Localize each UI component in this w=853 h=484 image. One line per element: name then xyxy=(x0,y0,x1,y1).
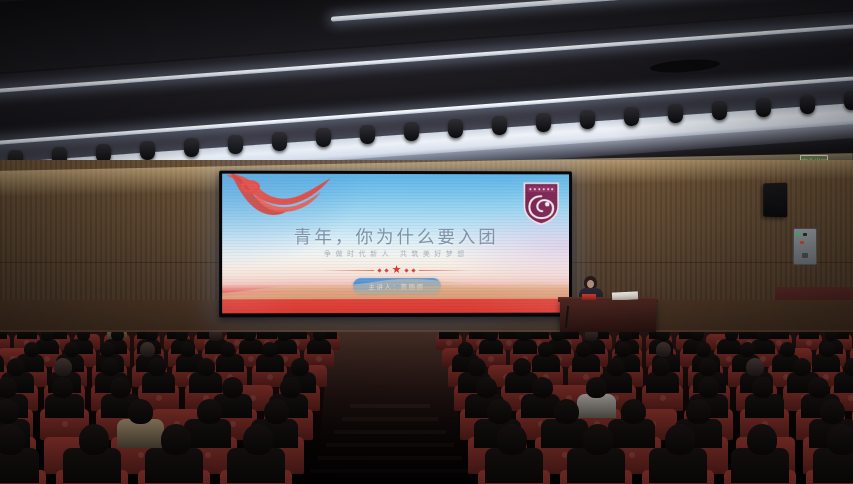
ceiling-downlight xyxy=(624,107,639,126)
attendee-head xyxy=(161,424,191,455)
attendee-head xyxy=(101,358,119,376)
attendee-head xyxy=(243,332,256,341)
attendee-head xyxy=(24,342,39,357)
attendee-head xyxy=(691,332,704,341)
red-ribbon-icon xyxy=(224,174,333,228)
attendee-head xyxy=(808,377,829,398)
attendee-head xyxy=(517,332,530,341)
seated-attendee xyxy=(287,332,308,339)
attendee-head xyxy=(583,424,613,455)
auditorium-photo: 安全出口 xyxy=(0,0,853,484)
attendee-head xyxy=(820,399,845,425)
ceiling-downlight xyxy=(844,91,853,110)
attendee-head xyxy=(277,332,290,341)
seated-attendee xyxy=(439,332,460,339)
attendee-head xyxy=(264,399,289,425)
attendee-head xyxy=(747,424,777,455)
attendee-head xyxy=(752,377,773,398)
attendee-head xyxy=(699,358,717,376)
ceiling-downlight xyxy=(228,135,243,154)
attendee-head xyxy=(497,424,527,455)
ceiling-downlight xyxy=(272,132,287,151)
attendee-head xyxy=(243,424,273,455)
seated-attendee xyxy=(529,332,550,339)
attendee-head xyxy=(740,342,755,357)
aisle-step xyxy=(350,404,430,408)
attendee-head xyxy=(313,332,326,341)
divider-diamond xyxy=(384,268,388,272)
attendee-head xyxy=(280,377,301,398)
attendee-head xyxy=(175,332,188,341)
wall-control-panel[interactable] xyxy=(793,228,817,265)
attendee-head xyxy=(820,342,835,357)
seated-attendee xyxy=(769,332,790,339)
ceiling-downlight xyxy=(140,141,155,160)
attendee-head xyxy=(576,342,591,357)
divider-diamond xyxy=(377,268,381,272)
wall-loudspeaker-icon xyxy=(763,183,787,218)
attendee-head xyxy=(291,358,309,376)
attendee-head xyxy=(619,332,632,341)
attendee-head xyxy=(665,424,695,455)
attendee-head xyxy=(746,358,764,376)
attendee-head xyxy=(476,377,497,398)
ceiling-downlight xyxy=(492,116,507,135)
ceiling-downlight xyxy=(184,138,199,157)
attendee-head xyxy=(513,358,531,376)
panel-led-green xyxy=(797,233,801,236)
attendee-head xyxy=(585,332,598,341)
audience-area xyxy=(0,332,853,484)
attendee-head xyxy=(128,399,153,425)
attendee-head xyxy=(607,358,625,376)
attendee-head xyxy=(52,377,73,398)
ceiling-downlight xyxy=(536,113,551,132)
aisle-step xyxy=(326,443,454,447)
attendee-head xyxy=(140,342,155,357)
panel-led-off xyxy=(803,233,807,236)
attendee-head xyxy=(100,342,115,357)
attendee-head xyxy=(825,332,838,341)
ceiling-downlight xyxy=(404,122,419,141)
attendee-head xyxy=(0,377,17,398)
seated-attendee xyxy=(0,332,7,339)
attendee-head xyxy=(656,342,671,357)
attendee-head xyxy=(532,377,553,398)
attendee-head xyxy=(696,342,711,357)
attendee-head xyxy=(220,342,235,357)
attendee-head xyxy=(180,342,195,357)
school-emblem-icon xyxy=(521,180,561,226)
slide-title: 青年，你为什么要入团 xyxy=(222,224,569,249)
attendee-head xyxy=(793,358,811,376)
attendee-head xyxy=(616,342,631,357)
attendee-head xyxy=(657,332,670,341)
attendee-head xyxy=(686,399,711,425)
panel-switch[interactable] xyxy=(802,253,808,258)
ceiling-downlight xyxy=(668,104,683,123)
aisle-step xyxy=(310,469,470,473)
attendee-head xyxy=(64,342,79,357)
attendee-head xyxy=(554,399,579,425)
divider-line-left xyxy=(321,270,373,271)
ceiling-downlight xyxy=(316,128,331,147)
attendee-head xyxy=(757,332,770,341)
panel-led-red xyxy=(800,241,804,244)
seated-attendee xyxy=(799,332,820,339)
ceiling-downlight xyxy=(712,101,727,120)
attendee-head xyxy=(780,342,795,357)
attendee-head xyxy=(77,332,90,341)
attendee-head xyxy=(262,342,277,357)
attendee-head xyxy=(487,399,512,425)
ceiling-downlight xyxy=(800,95,815,114)
attendee-head xyxy=(551,332,564,341)
attendee-head xyxy=(110,377,131,398)
seated-attendee xyxy=(257,332,278,339)
ceiling-downlight xyxy=(580,110,595,129)
divider-diamond xyxy=(412,268,416,272)
slide-subtitle: 争做时代新人 共筑美好梦想 xyxy=(222,249,569,259)
attendee-head xyxy=(725,332,738,341)
aisle-step xyxy=(334,430,446,434)
attendee-head xyxy=(827,424,853,455)
divider-diamond xyxy=(405,268,409,272)
attendee-head xyxy=(652,358,670,376)
attendee-head xyxy=(197,358,215,376)
attendee-head xyxy=(145,332,158,341)
attendee-head xyxy=(458,342,473,357)
attendee-head xyxy=(538,342,553,357)
attendee-head xyxy=(468,358,486,376)
attendee-head xyxy=(698,377,719,398)
attendee-head xyxy=(111,332,124,341)
ceiling-downlight xyxy=(360,125,375,144)
attendee-head xyxy=(54,358,72,376)
presenter-face xyxy=(587,280,594,288)
attendee-head xyxy=(197,399,222,425)
attendee-head xyxy=(7,358,25,376)
attendee-head xyxy=(0,424,25,455)
aisle-step xyxy=(342,417,438,421)
attendee-head xyxy=(485,332,498,341)
attendee-head xyxy=(148,358,166,376)
attendee-head xyxy=(209,332,222,341)
attendee-head xyxy=(586,377,607,398)
wooden-podium xyxy=(560,300,656,332)
ceiling-downlight xyxy=(756,98,771,117)
divider-line-right xyxy=(419,270,471,271)
ceiling-downlight xyxy=(448,119,463,138)
attendee-head xyxy=(621,399,646,425)
attendee-head xyxy=(41,332,54,341)
attendee-head xyxy=(79,424,109,455)
aisle-step xyxy=(318,456,462,460)
dune-silhouette xyxy=(222,273,569,299)
presentation-slide: 青年，你为什么要入团 争做时代新人 共筑美好梦想 ★ 主讲人：贺丽娜 xyxy=(222,174,569,314)
led-screen-bezel: 青年，你为什么要入团 争做时代新人 共筑美好梦想 ★ 主讲人：贺丽娜 xyxy=(219,171,572,318)
attendee-head xyxy=(222,377,243,398)
seated-attendee xyxy=(17,332,38,339)
